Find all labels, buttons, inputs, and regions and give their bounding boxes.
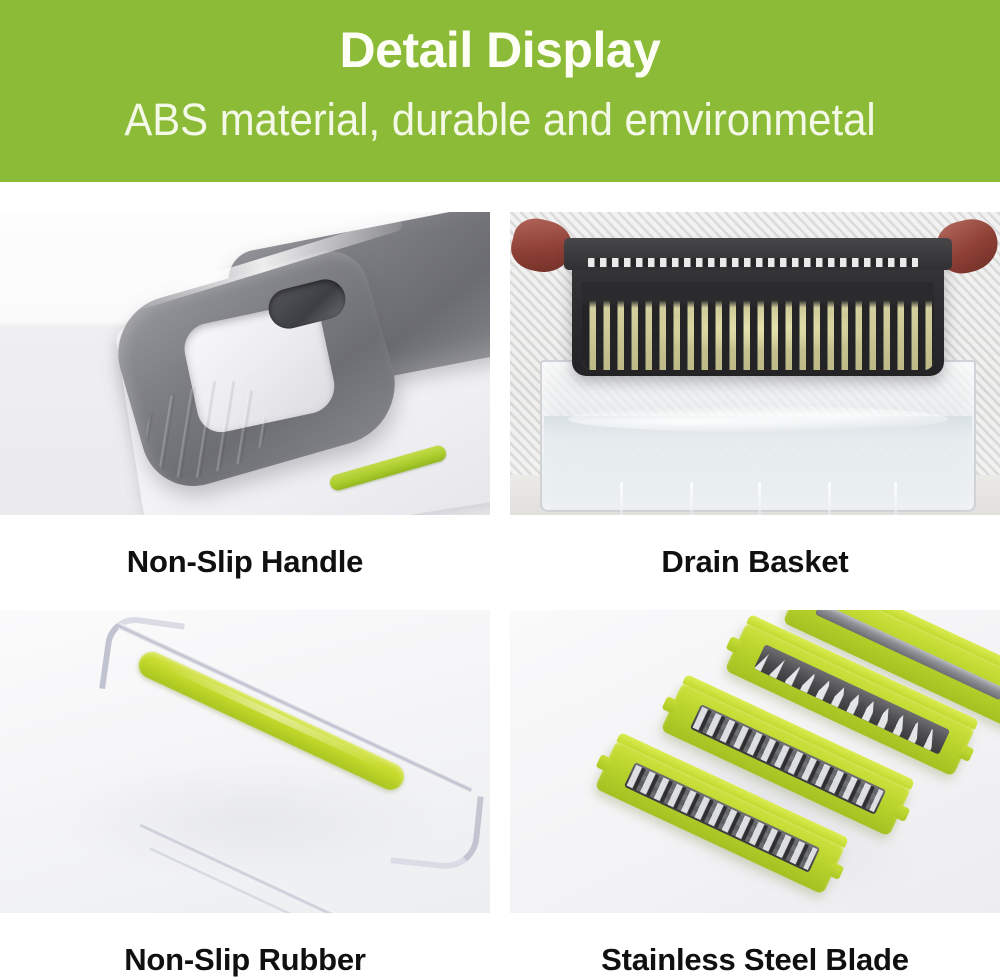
photo-drain-basket	[510, 212, 1000, 515]
caption-non-slip-handle: Non-Slip Handle	[0, 515, 490, 582]
clear-water-container	[540, 360, 976, 512]
feature-panel-non-slip-rubber: Non-Slip Rubber	[0, 610, 490, 980]
basket-upper-band	[582, 282, 934, 308]
photo-non-slip-handle	[0, 212, 490, 515]
header-banner: Detail Display ABS material, durable and…	[0, 0, 1000, 182]
page-title: Detail Display	[0, 21, 1000, 79]
photo-stainless-steel-blade	[510, 610, 1000, 913]
caption-drain-basket: Drain Basket	[510, 515, 1000, 582]
caption-non-slip-rubber: Non-Slip Rubber	[0, 913, 490, 980]
water-drip	[690, 482, 693, 515]
feature-grid: Non-Slip Handle	[0, 182, 1000, 979]
rubber-gloss-highlight	[162, 661, 386, 770]
feature-panel-stainless-steel-blade: Stainless Steel Blade	[510, 610, 1000, 980]
blade-tab-right	[958, 744, 975, 762]
black-drain-basket	[572, 242, 944, 376]
basket-side-wall	[582, 282, 934, 370]
blade-tab-left	[596, 754, 613, 772]
feature-panel-drain-basket: Drain Basket	[510, 212, 1000, 582]
detail-display-infographic: Detail Display ABS material, durable and…	[0, 0, 1000, 979]
feature-panel-non-slip-handle: Non-Slip Handle	[0, 212, 490, 582]
water-drip	[758, 482, 761, 515]
page-subtitle: ABS material, durable and emvironmetal	[35, 92, 965, 148]
basket-rim	[564, 238, 952, 270]
water-drip	[894, 482, 897, 515]
water-drip	[620, 482, 623, 515]
caption-stainless-steel-blade: Stainless Steel Blade	[510, 913, 1000, 980]
water-ripple	[568, 406, 948, 432]
water-drip	[828, 482, 831, 515]
acrylic-corner-bottom	[390, 788, 483, 873]
photo-non-slip-rubber	[0, 610, 490, 913]
blade-tab-left	[726, 636, 743, 654]
basket-rim-slots	[588, 258, 918, 267]
